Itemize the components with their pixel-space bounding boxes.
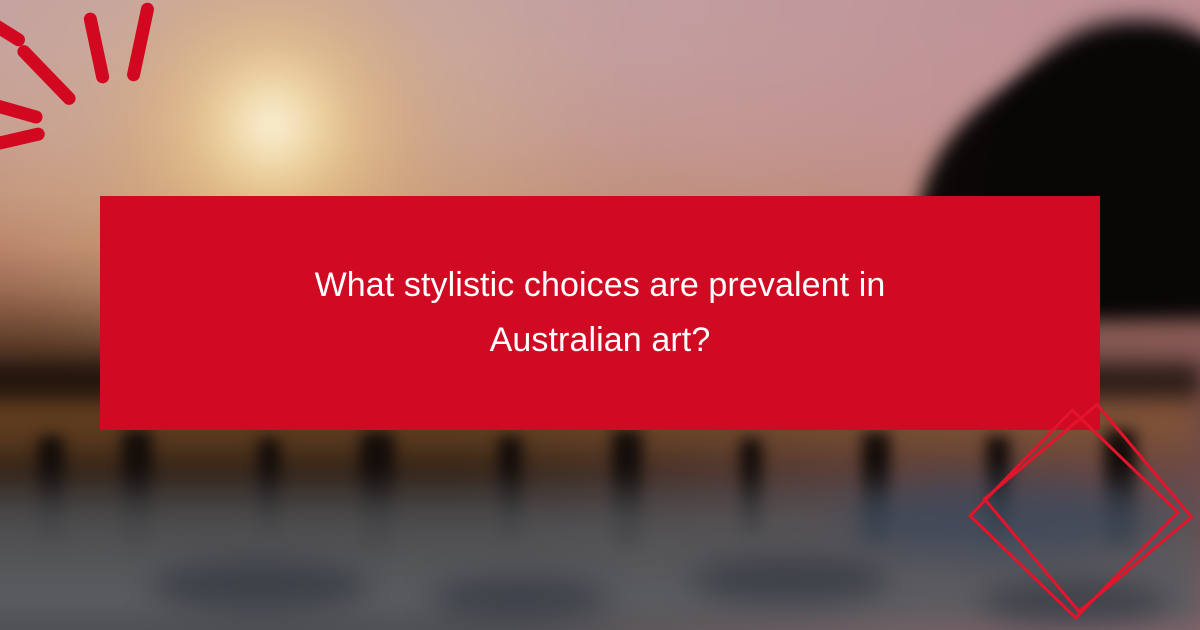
starburst-ray-4 bbox=[0, 95, 44, 125]
starburst-ray-2 bbox=[83, 11, 111, 84]
headline-text: What stylistic choices are prevalent in … bbox=[270, 258, 930, 368]
water-ripple-1 bbox=[150, 560, 370, 612]
rotated-squares-icon bbox=[985, 425, 1200, 630]
social-card: What stylistic choices are prevalent in … bbox=[0, 0, 1200, 630]
starburst-ray-1 bbox=[126, 2, 155, 83]
starburst-icon bbox=[0, 0, 200, 160]
water-ripple-2 bbox=[430, 576, 610, 620]
starburst-ray-5 bbox=[0, 126, 46, 155]
rotated-square-2 bbox=[982, 402, 1193, 613]
starburst-ray-6 bbox=[0, 13, 27, 48]
headline-banner: What stylistic choices are prevalent in … bbox=[100, 196, 1100, 430]
water-ripple-3 bbox=[690, 556, 890, 604]
starburst-ray-3 bbox=[15, 42, 79, 107]
